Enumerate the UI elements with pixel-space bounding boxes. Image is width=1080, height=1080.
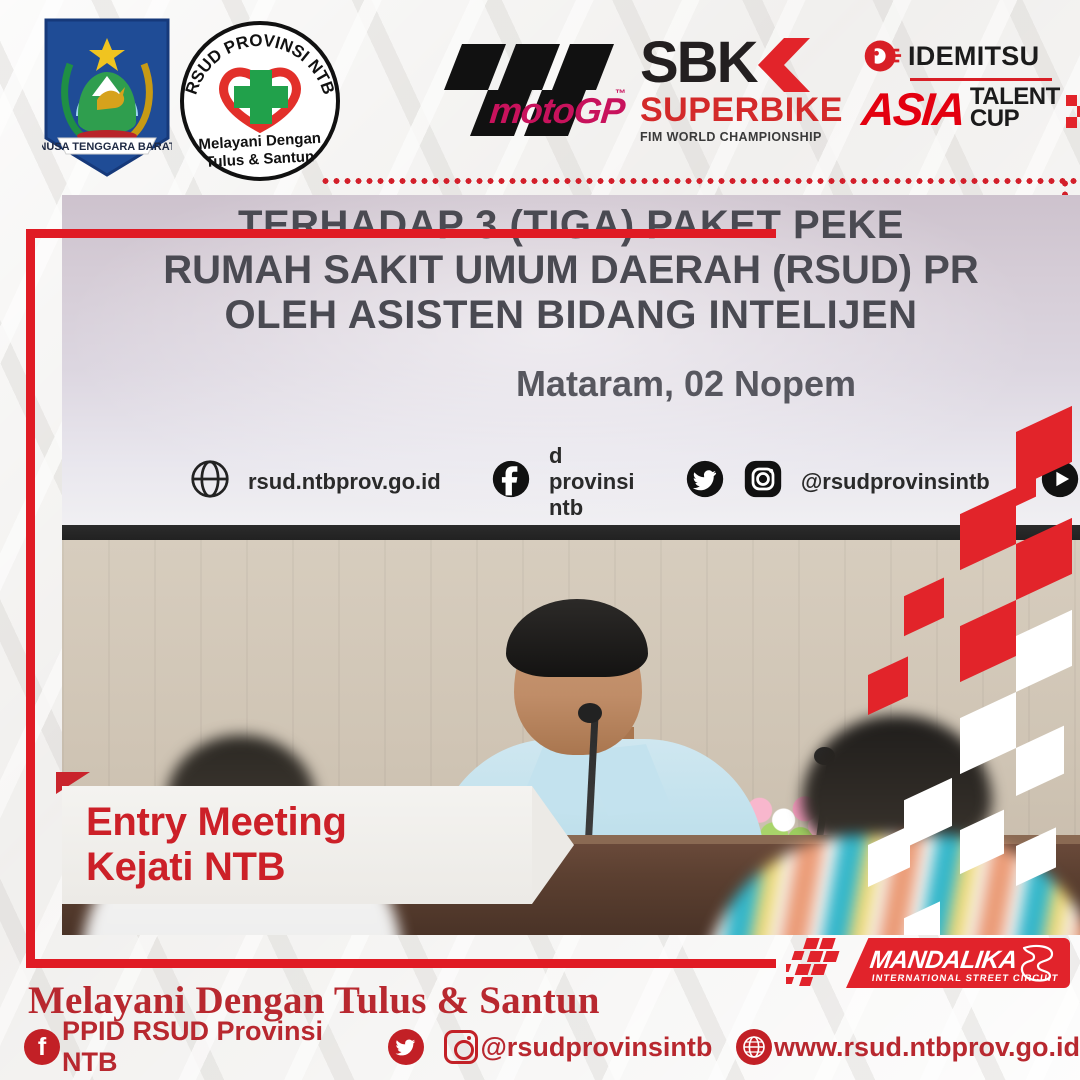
footer-social-handle: @rsudprovinsintb [480,1032,712,1063]
facebook-icon[interactable]: f [24,1029,60,1065]
cup-word: CUP [970,108,1060,130]
footer-contact-row: f PPID RSUD Provinsi NTB @rsudprovinsint… [24,1024,1080,1070]
idemitsu-wordmark: IDEMITSU [908,41,1039,72]
photo-attendee-right-head [802,715,992,855]
footer-website-label: www.rsud.ntbprov.go.id [774,1032,1080,1063]
caption-heading: Entry Meeting Kejati NTB [86,800,347,890]
checkered-flag-icon [1066,95,1080,129]
svg-text:NUSA TENGGARA BARAT: NUSA TENGGARA BARAT [42,141,172,153]
globe-icon[interactable] [736,1029,772,1065]
youtube-icon [1040,459,1080,505]
idemitsu-asia-talent-cup-logo: IDEMITSU ASIA TALENT CUP [862,36,1062,148]
caption-arrow-tip [532,786,574,904]
mandalika-track-outline-icon [1014,942,1058,984]
mandalika-circuit-logo: MANDALIKA INTERNATIONAL STREET CIRCUIT [786,934,1070,992]
idemitsu-mark-icon [862,36,902,76]
motogp-wordmark: motoGP [488,90,626,132]
ntb-provincial-emblem-icon: NUSA TENGGARA BARAT [42,16,172,179]
sbk-chevron-icon [758,38,810,92]
red-accent-frame-topcap [26,229,96,238]
sbk-superbike-word: SUPERBIKE [640,93,846,127]
sbk-championship-word: FIM WORLD CHAMPIONSHIP [640,130,846,144]
sbk-superbike-logo: SBK SUPERBIKE FIM WORLD CHAMPIONSHIP [640,34,846,150]
caption-line-1: Entry Meeting [86,800,347,844]
motogp-logo-icon: motoGP ™ [444,32,624,144]
idemitsu-underline [910,78,1052,81]
asia-word: ASIA [860,90,965,129]
footer-facebook-label: PPID RSUD Provinsi NTB [62,1016,357,1078]
caption-line-2: Kejati NTB [86,845,285,889]
dotted-border-top [320,178,1080,184]
sbk-letters: SBK [640,36,756,89]
mandalika-wordmark: MANDALIKA [868,946,1019,975]
rsud-provinsi-ntb-seal-icon: RSUD PROVINSI NTB Melayani Dengan Tulus … [176,20,344,178]
twitter-icon[interactable] [388,1029,424,1065]
backdrop-instagram-text: @rsudprovinsintb [801,469,990,495]
instagram-icon[interactable] [444,1030,478,1064]
motogp-trademark: ™ [615,88,626,100]
caption-ribbon: Entry Meeting Kejati NTB [62,786,532,904]
poster-canvas: NUSA TENGGARA BARAT RSUD PROVINSI NTB Me… [0,0,1080,1080]
header-logo-bar: NUSA TENGGARA BARAT RSUD PROVINSI NTB Me… [0,0,1080,178]
